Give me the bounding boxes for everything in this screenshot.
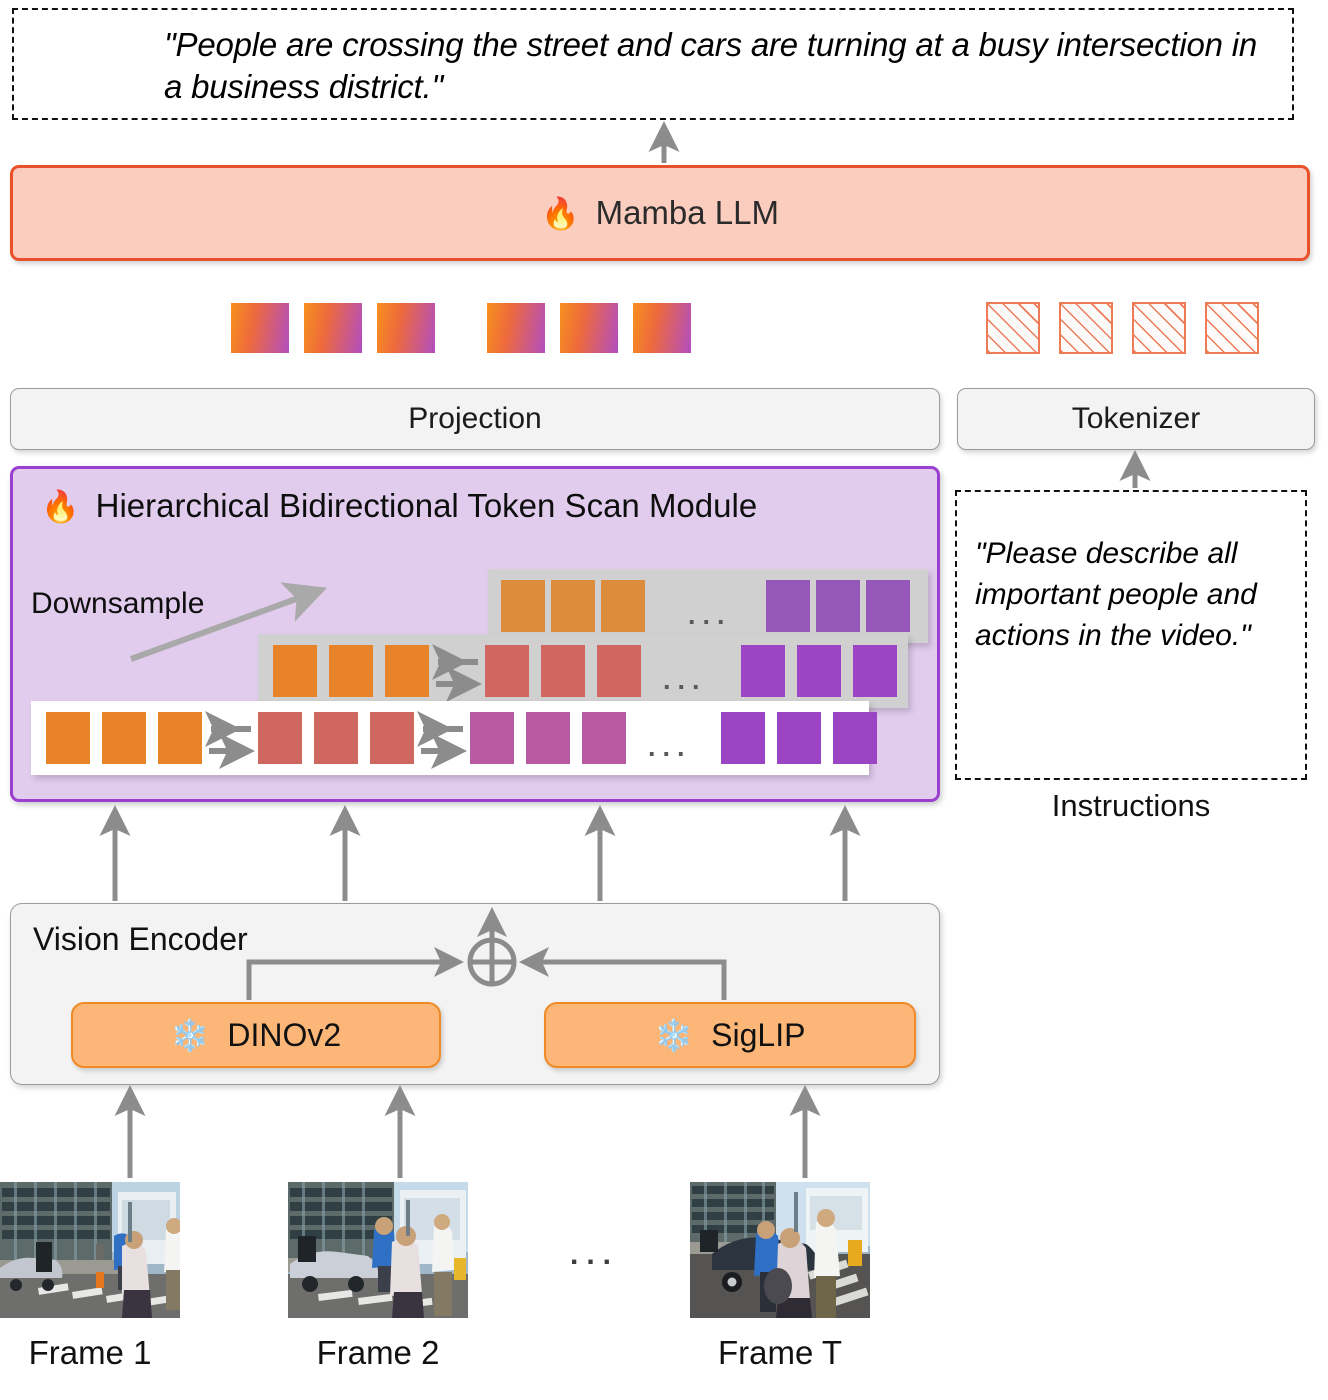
scan-token [526,712,570,764]
scan-token [597,645,641,697]
siglip-encoder: ❄️ SigLIP [544,1002,916,1068]
scan-token [102,712,146,764]
scan-token [329,645,373,697]
video-frame-2 [288,1182,468,1318]
snowflake-icon: ❄️ [171,1020,210,1051]
scan-token [370,712,414,764]
projection-label: Projection [408,402,541,436]
scan-token [797,645,841,697]
vision-encoder-label: Vision Encoder [33,921,248,958]
visual-token-3 [377,303,435,353]
scan-token [385,645,429,697]
scan-token [866,580,910,632]
text-token-1 [986,302,1040,354]
token-scan-row-level3: ... [488,569,928,643]
row-ellipsis: ... [648,734,692,761]
visual-token-2 [304,303,362,353]
row-ellipsis: ... [663,667,707,694]
frame-t-image [690,1182,870,1318]
model-output-text: "People are crossing the street and cars… [164,24,1264,108]
instructions-box: "Please describe all important people an… [955,490,1307,780]
frame-t-caption: Frame T [665,1334,895,1372]
instructions-caption: Instructions [955,788,1307,824]
scan-token [551,580,595,632]
mamba-llm-block: 🔥 Mamba LLM [10,165,1310,261]
visual-token-5 [560,303,618,353]
mamba-llm-label-group: 🔥 Mamba LLM [541,194,779,232]
scan-token [501,580,545,632]
frame-1-image [0,1182,180,1318]
scan-token [777,712,821,764]
text-token-3 [1132,302,1186,354]
scan-token [766,580,810,632]
text-token-4 [1205,302,1259,354]
scan-token [853,645,897,697]
scan-token [470,712,514,764]
vision-encoder-block: Vision Encoder ❄️ DINOv2 ❄️ SigLIP [10,903,940,1085]
tokenizer-label: Tokenizer [1072,402,1200,436]
scan-token [541,645,585,697]
frame-1-caption: Frame 1 [0,1334,205,1372]
hbts-title-group: 🔥 Hierarchical Bidirectional Token Scan … [41,487,757,525]
fire-icon: 🔥 [41,491,80,522]
dinov2-encoder: ❄️ DINOv2 [71,1002,441,1068]
scan-token [314,712,358,764]
scan-token [485,645,529,697]
scan-token [273,645,317,697]
scan-token [582,712,626,764]
video-frame-1 [0,1182,180,1318]
visual-token-1 [231,303,289,353]
projection-block: Projection [10,388,940,450]
model-output-box: "People are crossing the street and cars… [12,8,1294,120]
scan-token [601,580,645,632]
scan-token [721,712,765,764]
visual-token-4 [487,303,545,353]
hierarchical-bidirectional-token-scan-module: 🔥 Hierarchical Bidirectional Token Scan … [10,466,940,802]
mamba-llm-label: Mamba LLM [596,194,779,232]
snowflake-icon: ❄️ [655,1020,694,1051]
token-scan-row-level2: ... [258,634,908,708]
instructions-text: "Please describe all important people an… [975,534,1295,656]
text-token-2 [1059,302,1113,354]
scan-token [816,580,860,632]
fire-icon: 🔥 [541,198,580,229]
scan-token [258,712,302,764]
row-ellipsis: ... [688,602,732,629]
video-frame-t [690,1182,870,1318]
token-scan-row-level1: ... [31,701,869,775]
tokenizer-block: Tokenizer [957,388,1315,450]
frames-ellipsis: ... [570,1238,619,1272]
hbts-title-label: Hierarchical Bidirectional Token Scan Mo… [96,487,758,525]
scan-token [158,712,202,764]
siglip-label: SigLIP [711,1017,805,1054]
scan-token [741,645,785,697]
visual-token-6 [633,303,691,353]
scan-token [833,712,877,764]
scan-token [46,712,90,764]
dinov2-label: DINOv2 [227,1017,341,1054]
frame-2-caption: Frame 2 [263,1334,493,1372]
frame-2-image [288,1182,468,1318]
